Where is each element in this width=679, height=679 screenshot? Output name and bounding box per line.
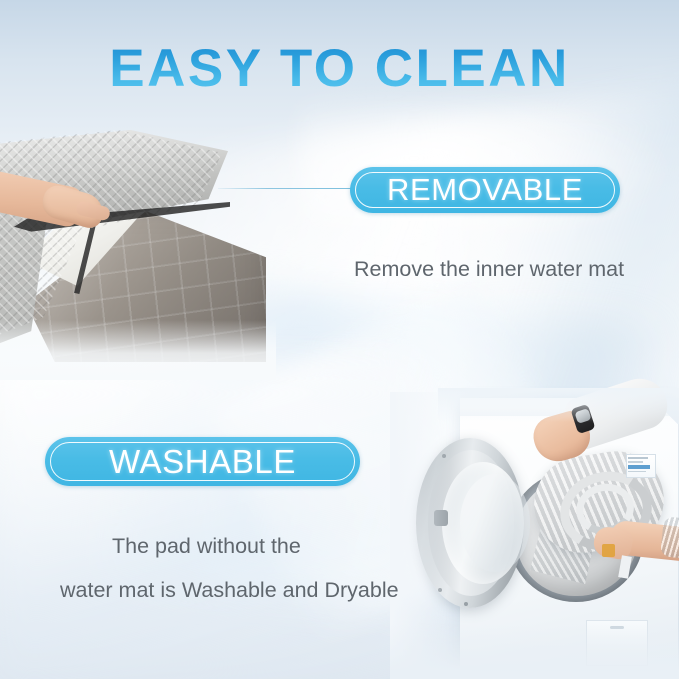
lower-sleeve-cuff xyxy=(660,516,679,560)
badge-removable[interactable]: REMOVABLE xyxy=(350,167,620,213)
washer-door-glass-reflection xyxy=(460,474,530,572)
photo-bottom-fade xyxy=(0,320,276,380)
washer-bottom-fade xyxy=(390,624,679,679)
caption-removable: Remove the inner water mat xyxy=(354,257,624,282)
background-sheen-4 xyxy=(0,360,420,679)
care-sticker xyxy=(602,544,615,557)
badge-removable-label: REMOVABLE xyxy=(387,172,583,208)
caption-washable-line-2: water mat is Washable and Dryable xyxy=(60,578,399,603)
photo-removable-water-mat xyxy=(0,130,266,362)
photo-washing-machine xyxy=(398,392,679,679)
energy-label-line-2 xyxy=(628,461,643,463)
washer-top-fade xyxy=(438,388,679,422)
badge-washable[interactable]: WASHABLE xyxy=(45,437,360,486)
energy-label-line-1 xyxy=(628,457,648,459)
energy-label-line-3 xyxy=(628,471,646,472)
caption-washable-line-1: The pad without the xyxy=(112,534,301,559)
washer-door-screw-3 xyxy=(464,602,468,606)
callout-line xyxy=(218,188,358,189)
product-feature-infographic: EASY TO CLEAN REMOVABLE Remove the inner… xyxy=(0,0,679,679)
energy-label-bar xyxy=(628,465,650,469)
page-title: EASY TO CLEAN xyxy=(0,42,679,95)
badge-washable-label: WASHABLE xyxy=(109,443,296,481)
